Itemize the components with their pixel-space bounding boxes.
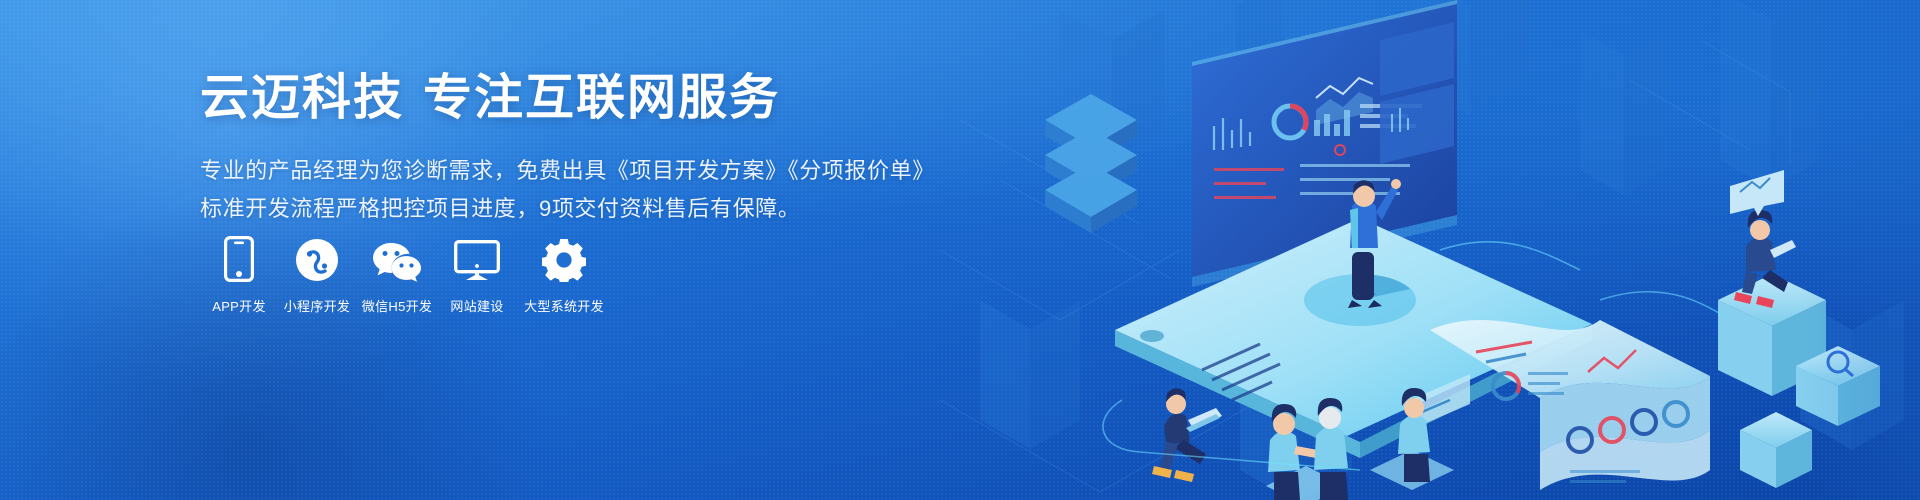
gear-icon — [542, 232, 586, 282]
service-item-mini-program[interactable]: 小程序开发 — [278, 232, 356, 315]
service-icon-list: APP开发 小程序开发 — [200, 232, 612, 315]
wechat-icon — [372, 232, 422, 282]
service-label: 大型系统开发 — [524, 296, 604, 315]
page-title: 云迈科技 专注互联网服务 — [200, 68, 940, 128]
server-stack — [1045, 94, 1137, 233]
service-item-wechat-h5[interactable]: 微信H5开发 — [356, 232, 438, 315]
service-item-app[interactable]: APP开发 — [200, 232, 278, 315]
mini-program-icon — [295, 232, 339, 282]
service-label: 网站建设 — [450, 296, 503, 315]
service-label: 微信H5开发 — [362, 296, 432, 315]
hero-illustration — [940, 0, 1920, 500]
service-label: APP开发 — [212, 296, 266, 315]
sitting-person-laptop — [1152, 388, 1222, 482]
mobile-phone-icon — [224, 232, 254, 282]
subtitle-line-2: 标准开发流程严格把控项目进度，9项交付资料售后有保障。 — [200, 192, 940, 226]
service-item-website[interactable]: 网站建设 — [438, 232, 516, 315]
hero-content: 云迈科技 专注互联网服务 专业的产品经理为您诊断需求，免费出具《项目开发方案》《… — [200, 68, 940, 226]
hero-banner: 云迈科技 专注互联网服务 专业的产品经理为您诊断需求，免费出具《项目开发方案》《… — [0, 0, 1920, 500]
service-item-large-system[interactable]: 大型系统开发 — [516, 232, 612, 315]
monitor-icon — [454, 232, 500, 282]
service-label: 小程序开发 — [284, 296, 351, 315]
subtitle-line-1: 专业的产品经理为您诊断需求，免费出具《项目开发方案》《分项报价单》 — [200, 154, 940, 188]
